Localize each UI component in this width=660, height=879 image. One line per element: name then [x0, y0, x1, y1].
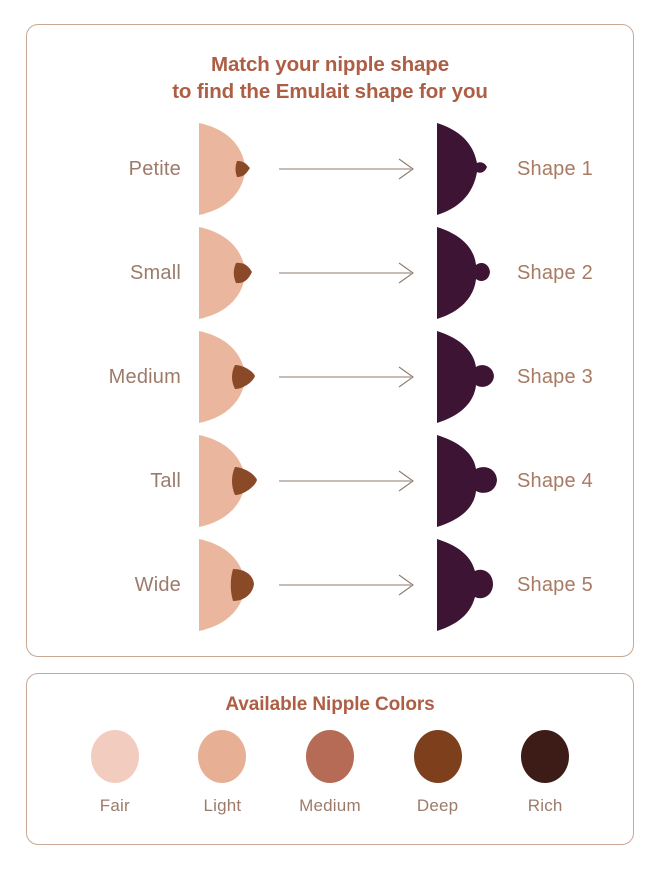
- size-label: Tall: [51, 470, 197, 493]
- emulait-nipple-shape-icon: [435, 433, 499, 529]
- arrow-right-icon: [279, 574, 419, 596]
- color-swatch[interactable]: Rich: [493, 730, 597, 816]
- color-name: Deep: [417, 796, 458, 816]
- color-swatch-list: Fair Light Medium Deep Rich: [51, 722, 609, 828]
- emulait-shape-cell: [435, 117, 501, 221]
- breast-silhouette-icon: [197, 329, 255, 425]
- arrow-right-icon: [279, 366, 419, 388]
- breast-silhouette-icon: [197, 537, 255, 633]
- color-swatch[interactable]: Fair: [63, 730, 167, 816]
- emulait-shape-cell: [435, 429, 501, 533]
- color-swatch[interactable]: Medium: [278, 730, 382, 816]
- breast-silhouette-icon: [197, 433, 255, 529]
- color-name: Medium: [299, 796, 361, 816]
- shape-label: Shape 2: [501, 262, 609, 285]
- arrow-right-icon: [279, 470, 419, 492]
- color-dot-deep[interactable]: [414, 730, 462, 783]
- emulait-nipple-shape-icon: [435, 121, 493, 217]
- size-label: Medium: [51, 366, 197, 389]
- color-dot-medium[interactable]: [306, 730, 354, 783]
- shape-label: Shape 5: [501, 574, 609, 597]
- emulait-shape-cell: [435, 533, 501, 637]
- breast-silhouette-icon: [197, 121, 255, 217]
- emulait-nipple-shape-icon: [435, 329, 497, 425]
- arrow-cell: [263, 117, 435, 221]
- color-name: Fair: [100, 796, 130, 816]
- arrow-right-icon: [279, 158, 419, 180]
- emulait-nipple-shape-icon: [435, 537, 497, 633]
- arrow-cell: [263, 533, 435, 637]
- emulait-nipple-shape-icon: [435, 225, 493, 321]
- breast-cell: [197, 221, 263, 325]
- match-row: Tall Sh: [51, 429, 609, 533]
- colors-title: Available Nipple Colors: [51, 694, 609, 716]
- shape-label: Shape 3: [501, 366, 609, 389]
- match-shape-card: Match your nipple shape to find the Emul…: [26, 24, 634, 657]
- color-dot-rich[interactable]: [521, 730, 569, 783]
- shape-label: Shape 1: [501, 158, 609, 181]
- color-swatch[interactable]: Deep: [386, 730, 490, 816]
- size-label: Wide: [51, 574, 197, 597]
- page-title: Match your nipple shape to find the Emul…: [51, 51, 609, 105]
- match-row: Wide Sh: [51, 533, 609, 637]
- match-row: Medium: [51, 325, 609, 429]
- size-label: Petite: [51, 158, 197, 181]
- emulait-shape-cell: [435, 221, 501, 325]
- size-label: Small: [51, 262, 197, 285]
- breast-silhouette-icon: [197, 225, 255, 321]
- shape-label: Shape 4: [501, 470, 609, 493]
- match-row-list: Petite: [51, 113, 609, 637]
- color-name: Rich: [528, 796, 563, 816]
- color-name: Light: [203, 796, 241, 816]
- available-colors-card: Available Nipple Colors Fair Light Mediu…: [26, 673, 634, 845]
- match-row: Petite: [51, 117, 609, 221]
- arrow-cell: [263, 221, 435, 325]
- breast-cell: [197, 325, 263, 429]
- arrow-right-icon: [279, 262, 419, 284]
- breast-cell: [197, 533, 263, 637]
- match-row: Small S: [51, 221, 609, 325]
- arrow-cell: [263, 429, 435, 533]
- color-dot-fair[interactable]: [91, 730, 139, 783]
- emulait-shape-cell: [435, 325, 501, 429]
- color-swatch[interactable]: Light: [170, 730, 274, 816]
- nipple-shape-guide: Match your nipple shape to find the Emul…: [0, 0, 660, 879]
- color-dot-light[interactable]: [198, 730, 246, 783]
- arrow-cell: [263, 325, 435, 429]
- breast-cell: [197, 117, 263, 221]
- breast-cell: [197, 429, 263, 533]
